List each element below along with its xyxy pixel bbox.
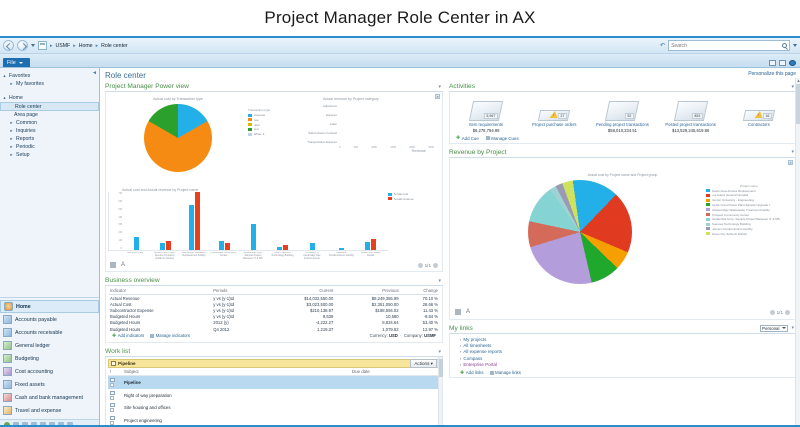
x-axis-label: Revenue [303,149,434,153]
legend-label: Jones City Schools District [712,232,748,236]
tree-item-label: Area page [14,112,38,118]
content-scrollbar[interactable]: ▲ ▼ [795,78,800,427]
bar-row[interactable]: Subcontractor Contract [303,128,434,137]
close-icon[interactable]: × [435,94,440,99]
home-icon [4,302,13,311]
tree-item-label: Favorites [9,73,30,79]
cue-pending-project-transactions[interactable]: 52 Pending project transactions $58,010,… [591,95,653,133]
document-icon [110,416,115,420]
column-bar [365,242,370,250]
magnifier-icon[interactable] [782,43,787,48]
manage-indicators-link[interactable]: Manage indicators [150,333,190,338]
column-group[interactable] [299,192,325,250]
content-header: Role center Personalize this page [105,71,796,80]
chart-actual-revenue-by-project-category[interactable]: Actual revenue by Project category Adjus… [303,94,440,186]
table-row[interactable]: Site housing and offices [108,401,440,414]
legend-swatch [388,193,392,196]
tree-item-reports[interactable]: ▸ Reports [0,135,99,143]
ribbon-quick-actions [769,60,796,66]
module-item-travel-and-expense[interactable]: Travel and expense [0,404,99,417]
filter-icon [111,361,116,366]
legend-swatch [388,197,392,200]
scroll-up-icon[interactable]: ▲ [796,78,800,83]
refresh-icon[interactable]: ↶ [660,42,665,49]
module-item-fixed-assets[interactable]: Fixed assets [0,378,99,391]
pie-chart-wrapper [453,178,706,284]
my-links-label: Enterprise Portal [463,362,497,367]
document-icon [110,378,115,382]
revenue-chart-footer: A 1/1 [450,308,795,317]
chart-actual-cost-by-transaction-type[interactable]: Actual cost by Transaction type [108,94,248,186]
legend-swatch [706,208,710,211]
power-view-body: × Actual cost by Transaction type Transa… [105,92,443,272]
legend-label: Actual revenue [394,197,414,201]
module-item-cash-and-bank-management[interactable]: Cash and bank management [0,391,99,404]
help-icon[interactable] [789,60,796,66]
ribbon-bar: File [0,54,800,68]
tree-item-common[interactable]: ▸ Common [0,119,99,127]
fixed-assets-icon [3,380,12,389]
cost-accounting-icon [3,367,12,376]
previous-page-icon[interactable] [770,310,775,315]
cue-label: Posted project transactions [660,122,722,127]
column-bar [371,239,376,250]
cue-label: Item requirements [455,122,517,127]
legend-item[interactable]: Actual revenue [388,197,440,201]
add-links-link[interactable]: ✚Add links [460,370,484,375]
bullet-icon: ▪ [460,337,461,342]
part-activities: Activities ▾ 5,967 [449,83,796,144]
module-item-label: Home [16,304,31,310]
twisty-icon: ▴ [2,95,7,101]
document-icon [110,391,115,395]
cue-count: 16 [763,113,772,119]
legend-item[interactable]: Avenues Technology Building [706,222,792,226]
cell-icons [108,376,122,389]
chart-title: Actual cost by Transaction type [108,97,248,101]
page-indicator: 1/1 [425,263,431,268]
cue-posted-project-transactions[interactable]: 853 Posted project transactions $13,529,… [660,95,722,133]
my-links-label: Compass [463,356,482,361]
work-list-table: ! Subject Due date Pipeline [108,369,440,426]
navigation-tree: ◄ ▴ Favorites ▸ My favorites ▴ Home Role… [0,68,99,297]
page-indicator: 1/1 [777,310,783,315]
add-indicators-link[interactable]: ✚Add indicators [112,333,144,338]
tree-item-role-center[interactable]: Role center [0,102,99,111]
bar-row[interactable]: Expense [303,110,434,119]
y-tick: 0 [111,247,122,250]
column-group[interactable] [152,192,178,250]
module-item-accounts-payable[interactable]: Accounts payable [0,313,99,326]
scrollbar-thumb[interactable] [439,359,443,377]
legend-item[interactable]: Chesterridge Wastewater Treatment Facili… [706,208,792,212]
add-links-label: Add links [466,370,484,375]
column-group[interactable] [358,192,384,250]
legend-label: Actual cost [394,192,409,196]
y-tick: 3M [111,223,122,226]
column-chart-plot[interactable]: 7M 6M 5M 4M 3M 2M 1M 0 [108,192,388,251]
breadcrumb-item-home[interactable]: Home [78,43,94,49]
tree-item-my-favorites[interactable]: ▸ My favorites [0,80,99,88]
plus-icon: ✚ [460,371,464,375]
legend-swatch [706,189,710,192]
part-header[interactable]: Work list ▾ [105,348,443,357]
collapse-icon[interactable]: ▾ [438,278,443,284]
file-menu-button[interactable]: File [3,58,30,67]
next-page-icon[interactable] [785,310,790,315]
column-bar [219,241,224,250]
part-header[interactable]: Revenue by Project ▾ [449,149,796,158]
module-shortcut-icon[interactable] [49,422,55,427]
accounts-receivable-icon [3,328,12,337]
collapse-icon[interactable]: ▾ [438,349,443,355]
part-title: Work list [105,348,130,355]
bullet-icon: ▪ [460,349,461,354]
add-indicators-label: Add indicators [118,333,145,338]
legend-label: Uptown Condominiums Facility [712,227,753,231]
bullet-icon: ▪ [460,343,461,348]
next-page-icon[interactable] [433,263,438,268]
currency-company-info: Currency: USD · Company: USMF [370,333,436,338]
part-header[interactable]: My links Personal ▾ [449,325,796,334]
search-box[interactable] [668,40,790,51]
bullet-icon: ▪ [460,356,461,361]
module-shortcut-icon[interactable] [58,422,64,427]
previous-page-icon[interactable] [418,263,423,268]
column-bar [166,241,171,250]
bar-row[interactable]: Labor [303,119,434,128]
cue-count: 27 [558,113,567,119]
tree-item-periodic[interactable]: ▸ Periodic [0,143,99,151]
column-bar [251,224,256,250]
y-tick: 1M [111,239,122,242]
my-links-label: My projects [463,337,486,342]
table-row[interactable]: Project engineering [108,414,440,427]
cue-count: 853 [692,113,703,119]
legend-label: Expense [254,113,266,117]
twisty-icon: ▸ [9,120,14,126]
content-area: Role center Personalize this page Projec… [100,68,800,427]
part-header[interactable]: Project Manager Power view ▾ [105,83,443,92]
scrollbar-thumb[interactable] [796,84,800,124]
window-icon[interactable] [779,60,786,66]
module-shortcut-icon[interactable] [40,422,46,427]
cue-contractors[interactable]: 16 Contractors [728,95,790,128]
module-shortcut-icon[interactable] [31,422,37,427]
text-tool-icon[interactable]: A [466,309,472,315]
y-tick: 4M [111,216,122,219]
actions-button[interactable]: Actions ▾ [410,359,437,368]
cue-stack-icon: 853 [660,95,722,121]
module-shortcut-icon[interactable] [13,422,19,427]
column-group[interactable] [270,192,296,250]
cell-due-date [350,401,440,414]
cell-subject: Project engineering [122,414,350,427]
personalize-page-link[interactable]: Personalize this page [748,71,796,77]
page-banner: Project Manager Role Center in AX [0,0,800,36]
cell-due-date [350,414,440,427]
cell-subject: Site housing and offices [122,401,350,414]
manage-indicators-label: Manage indicators [156,333,190,338]
legend-label: Chesterridge Wastewater Treatment Facili… [712,208,770,212]
currency-value: USD [389,333,398,338]
chart-actual-cost-and-revenue-by-project-name[interactable]: Actual cost and Actual revenue by Projec… [108,188,388,264]
module-overflow-icon[interactable] [67,422,73,427]
document-icon [110,403,115,407]
layout-icon[interactable] [769,60,776,66]
part-header[interactable]: Activities ▾ [449,83,796,92]
travel-expense-icon [3,406,12,415]
application-window: ▸ USMF ▸ Home ▸ Role center ↶ File [0,36,800,427]
work-list-scrollbar[interactable] [438,357,442,427]
close-icon[interactable]: × [788,160,793,165]
cell-change: 70.10 % [400,295,439,302]
breadcrumb-separator: ▸ [96,43,99,49]
my-links-item[interactable]: ▪All expense reports [460,349,793,354]
filter-field[interactable]: Pipeline [111,361,136,366]
table-row[interactable]: Actual Revenue y vs (y-1)td $14,032,550.… [109,295,439,302]
pin-icon[interactable]: ◄ [92,70,97,76]
grid-view-icon[interactable] [110,262,116,268]
bar-track [339,120,434,127]
legend-label: Fee [254,118,259,122]
my-links-item[interactable]: ▪Compass [460,356,793,361]
bar-track [339,129,434,136]
breadcrumb-item-role-center[interactable]: Role center [100,43,129,49]
x-tick: 1500 [390,146,396,149]
add-cue-link[interactable]: ✚Add Cue [456,136,479,141]
status-icon [110,383,114,387]
add-cue-label: Add Cue [462,136,479,141]
legend-item[interactable]: Cedar Crest Power Plant Sample Upgrade I [706,203,792,207]
cell-subject: Right of way preparation [122,389,350,402]
bar-label: Subcontractor Contract [303,131,337,135]
cue-stack-icon: 52 [591,95,653,121]
tree-item-label: My favorites [16,81,44,87]
filter-value: Pipeline [118,361,136,366]
address-options-icon[interactable] [793,44,797,47]
legend-item[interactable]: Denver University - Engineering [706,198,792,202]
table-row[interactable]: Right of way preparation [108,389,440,402]
role-center-panes: Project Manager Power view ▾ × Actual co… [105,83,796,427]
legend-item[interactable]: Residential Corp. Sample Project Between… [706,217,792,221]
chart-legend-transaction-type: Transaction type Expense Fee Hour Item W… [248,94,303,186]
activities-links: ✚Add Cue Manage Cues [452,133,793,141]
module-item-home[interactable]: Home [0,300,99,313]
bar-track [339,111,434,118]
cue-label: Pending project transactions [591,122,653,127]
breadcrumb-separator: ▸ [50,43,53,49]
cell-previous: $8,249,355.99 [334,295,399,302]
legend-label: Item [254,127,260,131]
column-group[interactable] [328,192,354,250]
cell-icons [108,414,122,427]
legend-item[interactable]: Prospect Community Center [706,213,792,217]
column-bar [277,247,282,250]
module-shortcut-icon[interactable] [22,422,28,427]
document-stack-icon: 27 [538,110,570,121]
legend-swatch [706,227,710,230]
my-links-item[interactable]: ▪My projects [460,337,793,342]
manage-cues-label: Manage Cues [491,136,518,141]
business-overview-table: Indicator Periods Current Previous Chang… [109,288,439,332]
pie-chart[interactable] [144,104,212,172]
tree-item-home[interactable]: ▴ Home [0,94,99,102]
tree-item-label: Inquiries [16,128,36,134]
power-view-bottom-row: Actual cost and Actual revenue by Projec… [108,186,440,264]
navigation-pane: ◄ ▴ Favorites ▸ My favorites ▴ Home Role… [0,68,100,427]
document-stack-icon: 853 [674,101,708,121]
my-links-scope-select[interactable]: Personal [760,325,788,332]
legend-item[interactable]: Actual cost [388,192,440,196]
bar-label: Expense [303,113,337,117]
legend-item[interactable]: Item [248,127,303,131]
power-view-tools: A [110,262,127,268]
breadcrumb-item-usmf[interactable]: USMF [55,43,72,49]
column-group[interactable] [240,192,266,250]
tree-item-inquiries[interactable]: ▸ Inquiries [0,127,99,135]
part-title: Project Manager Power view [105,83,189,90]
part-my-links: My links Personal ▾ ▪My projects [449,325,796,379]
cue-stack-icon: 16 [728,95,790,121]
column-group[interactable] [123,192,149,250]
chevron-down-icon[interactable] [31,44,35,47]
twisty-icon: ▸ [9,81,14,87]
cue-list: 5,967 Item requirements $6,278,794.99 [452,95,793,133]
chart-title: Actual cost by Project name and Project … [453,161,792,177]
business-overview-links: ✚Add indicators Manage indicators [112,333,190,338]
cue-project-purchase-orders[interactable]: 27 Project purchase orders [523,95,585,128]
budgeting-icon [3,354,12,363]
banner-title: Project Manager Role Center in AX [264,8,535,28]
grid-icon [486,136,490,140]
legend-title: Project name [706,184,792,188]
my-links-item[interactable]: ▪Enterprise Portal [460,362,793,367]
legend-item[interactable]: Fee [248,118,303,122]
document-stack-icon: 52 [605,101,639,121]
tree-item-area-page[interactable]: Area page [0,111,99,119]
module-item-accounts-receivable[interactable]: Accounts receivable [0,326,99,339]
legend-swatch [706,232,710,235]
legend-label: Los Gatos General Hospital [712,193,749,197]
cue-item-requirements[interactable]: 5,967 Item requirements $6,278,794.99 [455,95,517,133]
column-bar [283,245,288,250]
my-links-footer: ✚Add links Manage links [460,368,793,375]
module-item-label: Cash and bank management [15,395,83,401]
my-links-scope-value: Personal [762,326,779,331]
left-column: Project Manager Power view ▾ × Actual co… [105,83,443,427]
business-overview-body: Indicator Periods Current Previous Chang… [105,286,443,343]
module-item-label: Accounts payable [15,317,57,323]
part-power-view: Project Manager Power view ▾ × Actual co… [105,83,443,272]
bar-row[interactable]: Adjustment [303,101,434,110]
my-links-label: All expense reports [463,349,502,354]
cell-period: y vs (y-1)td [212,295,264,302]
plus-icon: ✚ [112,334,116,338]
part-title: My links [449,325,473,332]
tree-item-setup[interactable]: ▸ Setup [0,151,99,159]
column-bar [310,243,315,250]
legend-swatch [706,213,710,216]
legend-item[interactable]: Expense [248,113,303,117]
search-input[interactable] [671,43,782,49]
legend-item[interactable]: Hour [248,123,303,127]
column-group[interactable] [182,192,208,250]
tree-item-label: Periodic [16,144,35,150]
cue-label: Contractors [728,122,790,127]
my-links-item[interactable]: ▪All timesheets [460,343,793,348]
bar-track [339,102,434,109]
manage-links-link[interactable]: Manage links [490,370,521,375]
chevron-down-icon [782,327,786,329]
y-tick: 2M [111,231,122,234]
forward-arrow-icon[interactable] [17,40,28,51]
manage-cues-link[interactable]: Manage Cues [486,136,519,141]
chevron-down-icon [19,62,23,64]
module-item-general-ledger[interactable]: General ledger [0,339,99,352]
module-item-label: Fixed assets [15,382,45,388]
part-title: Activities [449,83,475,90]
module-item-cost-accounting[interactable]: Cost accounting [0,365,99,378]
text-tool-icon[interactable]: A [121,262,127,268]
pie-chart[interactable] [528,180,632,284]
manage-links-label: Manage links [495,370,521,375]
revenue-by-project-body: × Actual cost by Project name and Projec… [449,158,796,320]
legend-item[interactable]: Austin Area Access Replacement [706,189,792,193]
chart-actual-cost-by-project-name: Project name Austin Area Access Replacem… [453,177,792,284]
collapse-icon[interactable]: ▾ [438,84,443,90]
legend-swatch [248,133,252,136]
currency-label: Currency: [370,333,388,338]
tree-item-label: Role center [15,104,42,110]
column-bar [134,237,139,250]
work-list-filter-bar[interactable]: Pipeline Actions ▾ [108,359,440,368]
accounts-payable-icon [3,315,12,324]
legend-swatch [706,194,710,197]
twisty-icon: ▴ [2,73,7,79]
cue-count: 52 [625,113,634,119]
legend-swatch [248,128,252,131]
legend-item[interactable]: Whse. it. [248,132,303,136]
part-title: Business overview [105,277,160,284]
chart-legend-project-name: Project name Austin Area Access Replacem… [706,178,792,237]
cell-due-date [350,376,440,389]
module-list: Home Accounts payable Accounts receivabl… [0,297,99,419]
x-tick: 0 [339,146,340,149]
cue-stack-icon: 27 [523,95,585,121]
column-group[interactable] [211,192,237,250]
legend-label: Whse. it. [254,132,266,136]
tree-item-favorites[interactable]: ▴ Favorites [0,72,99,80]
legend-item[interactable]: Los Gatos General Hospital [706,193,792,197]
tree-item-label: Reports [16,136,34,142]
part-header[interactable]: Business overview ▾ [105,277,443,286]
twisty-icon: ▸ [9,128,14,134]
column-bar [189,205,194,250]
back-arrow-icon[interactable] [3,40,14,51]
module-item-budgeting[interactable]: Budgeting [0,352,99,365]
part-title: Revenue by Project [449,149,507,156]
home-shortcut-icon[interactable] [4,422,10,427]
table-row[interactable]: Pipeline [108,376,440,389]
grid-icon [150,334,154,338]
grid-view-icon[interactable] [455,309,461,315]
bar-row[interactable]: Transportation Expense [303,137,434,146]
legend-item[interactable]: Uptown Condominiums Facility [706,227,792,231]
legend-item[interactable]: Jones City Schools District [706,232,792,236]
cue-stack-icon: 5,967 [455,95,517,121]
cell-due-date [350,389,440,402]
